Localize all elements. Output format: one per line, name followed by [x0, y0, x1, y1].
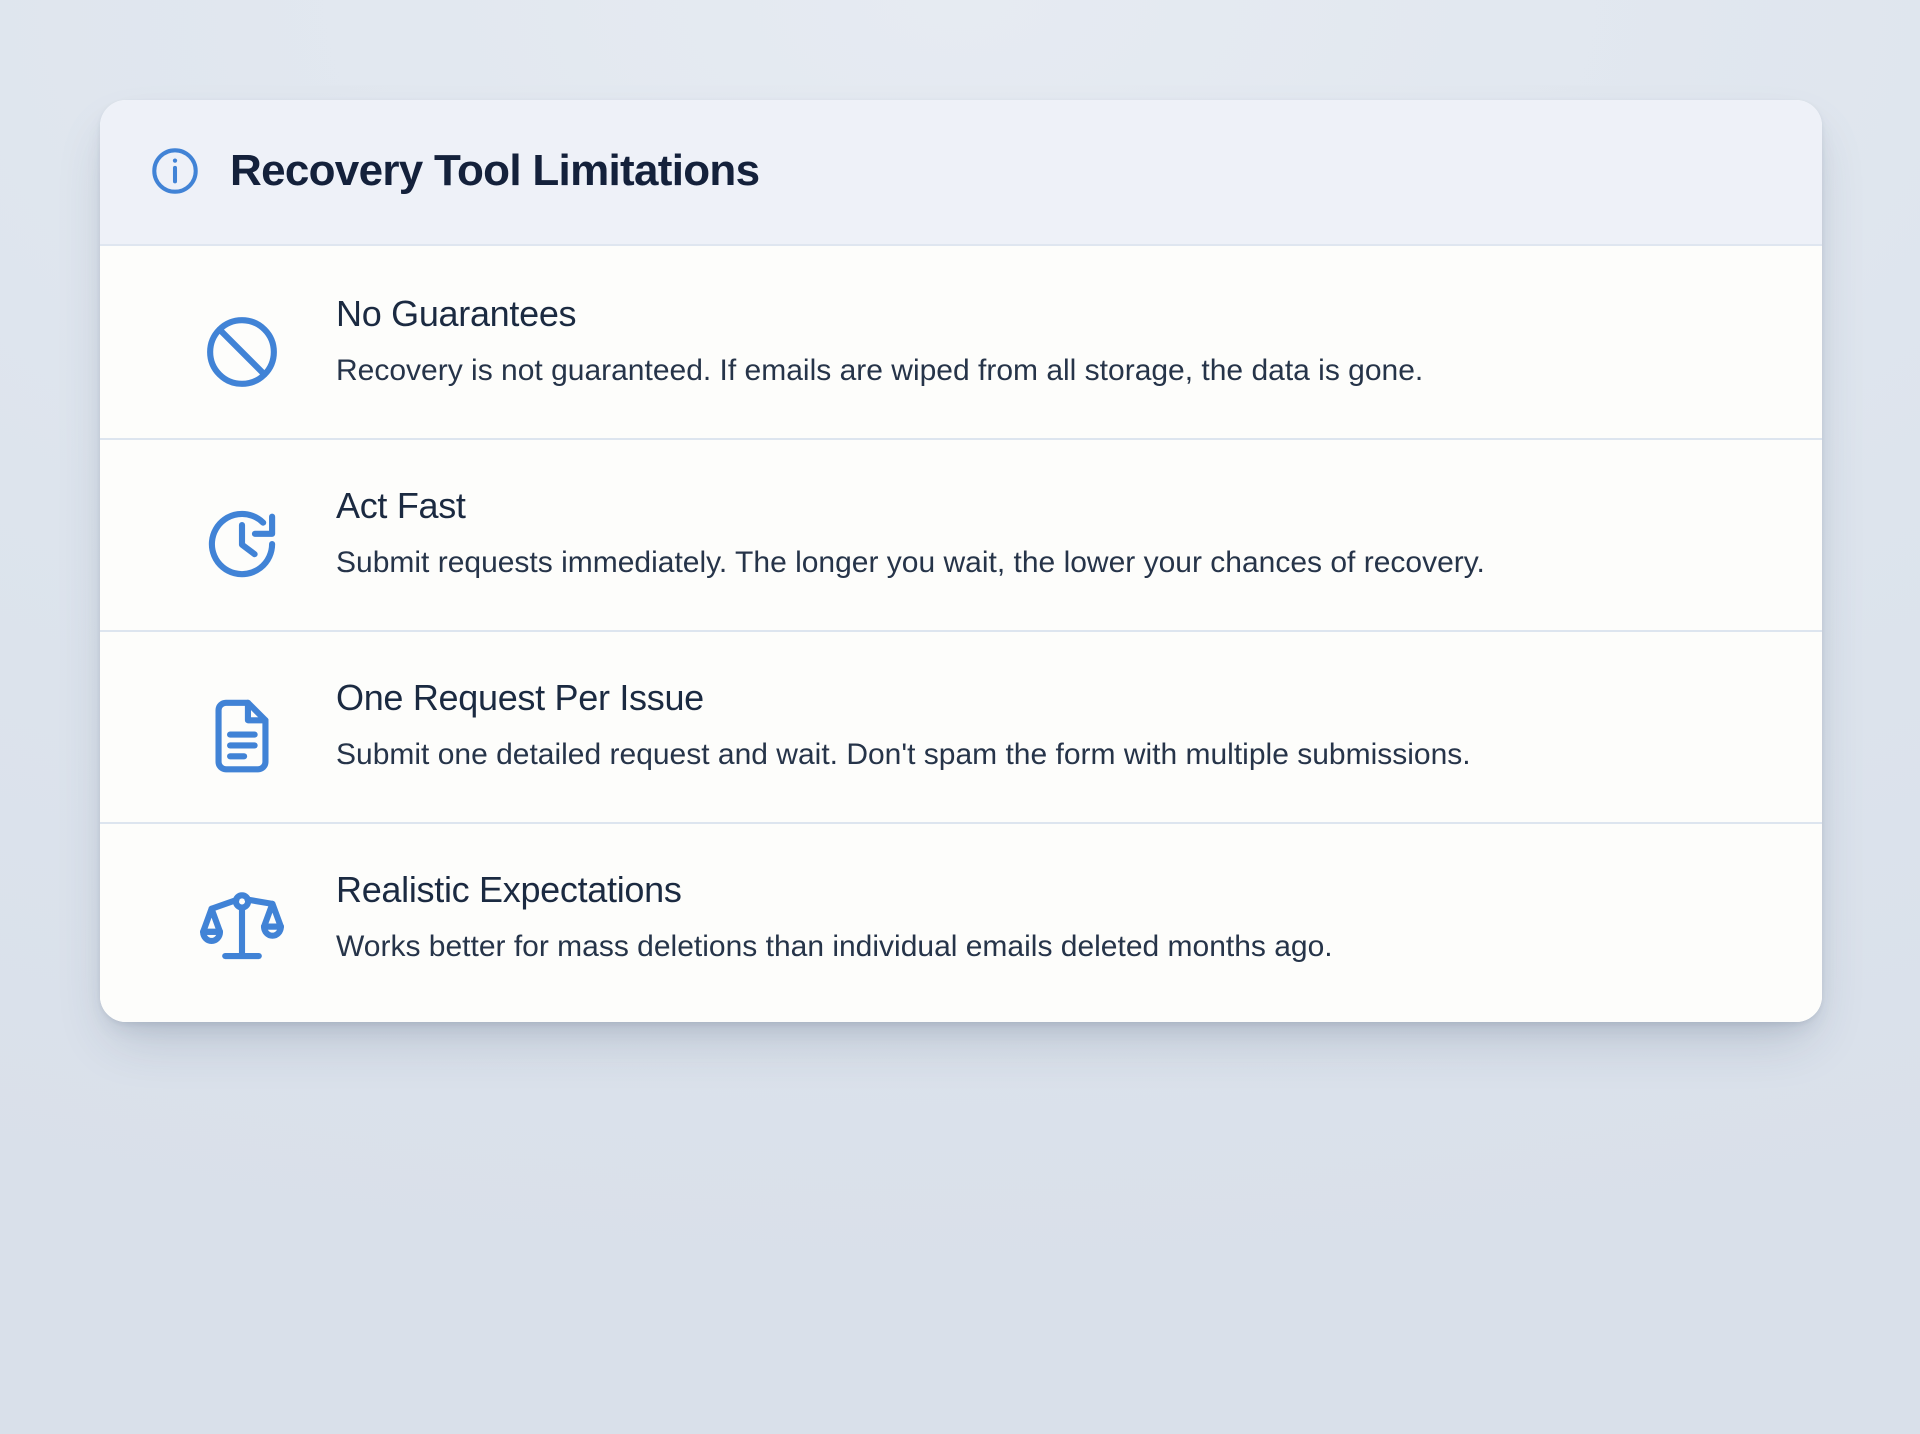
list-item: Realistic Expectations Works better for … — [100, 824, 1822, 1022]
limitations-list: No Guarantees Recovery is not guaranteed… — [100, 246, 1822, 1022]
list-item-icon-cell — [148, 868, 336, 970]
prohibited-icon — [200, 310, 284, 394]
list-item-description: Submit requests immediately. The longer … — [336, 541, 1696, 585]
list-item-description: Works better for mass deletions than ind… — [336, 925, 1696, 969]
list-item-icon-cell — [148, 292, 336, 394]
page-title: Recovery Tool Limitations — [230, 148, 759, 194]
list-item-title: Act Fast — [336, 484, 1722, 527]
document-lines-icon — [200, 694, 284, 778]
clock-rotate-icon — [200, 502, 284, 586]
list-item-title: One Request Per Issue — [336, 676, 1722, 719]
list-item-body: Realistic Expectations Works better for … — [336, 868, 1762, 969]
list-item-title: No Guarantees — [336, 292, 1722, 335]
list-item: No Guarantees Recovery is not guaranteed… — [100, 246, 1822, 440]
list-item-body: One Request Per Issue Submit one detaile… — [336, 676, 1762, 777]
info-circle-icon — [148, 144, 202, 198]
card-header: Recovery Tool Limitations — [100, 100, 1822, 246]
list-item-icon-cell — [148, 676, 336, 778]
balance-scales-icon — [200, 886, 284, 970]
list-item-description: Submit one detailed request and wait. Do… — [336, 733, 1696, 777]
list-item: One Request Per Issue Submit one detaile… — [100, 632, 1822, 824]
list-item-body: No Guarantees Recovery is not guaranteed… — [336, 292, 1762, 393]
list-item-body: Act Fast Submit requests immediately. Th… — [336, 484, 1762, 585]
recovery-tool-limitations-card: Recovery Tool Limitations No Guarantees … — [100, 100, 1822, 1022]
list-item-title: Realistic Expectations — [336, 868, 1722, 911]
list-item-description: Recovery is not guaranteed. If emails ar… — [336, 349, 1696, 393]
list-item-icon-cell — [148, 484, 336, 586]
list-item: Act Fast Submit requests immediately. Th… — [100, 440, 1822, 632]
